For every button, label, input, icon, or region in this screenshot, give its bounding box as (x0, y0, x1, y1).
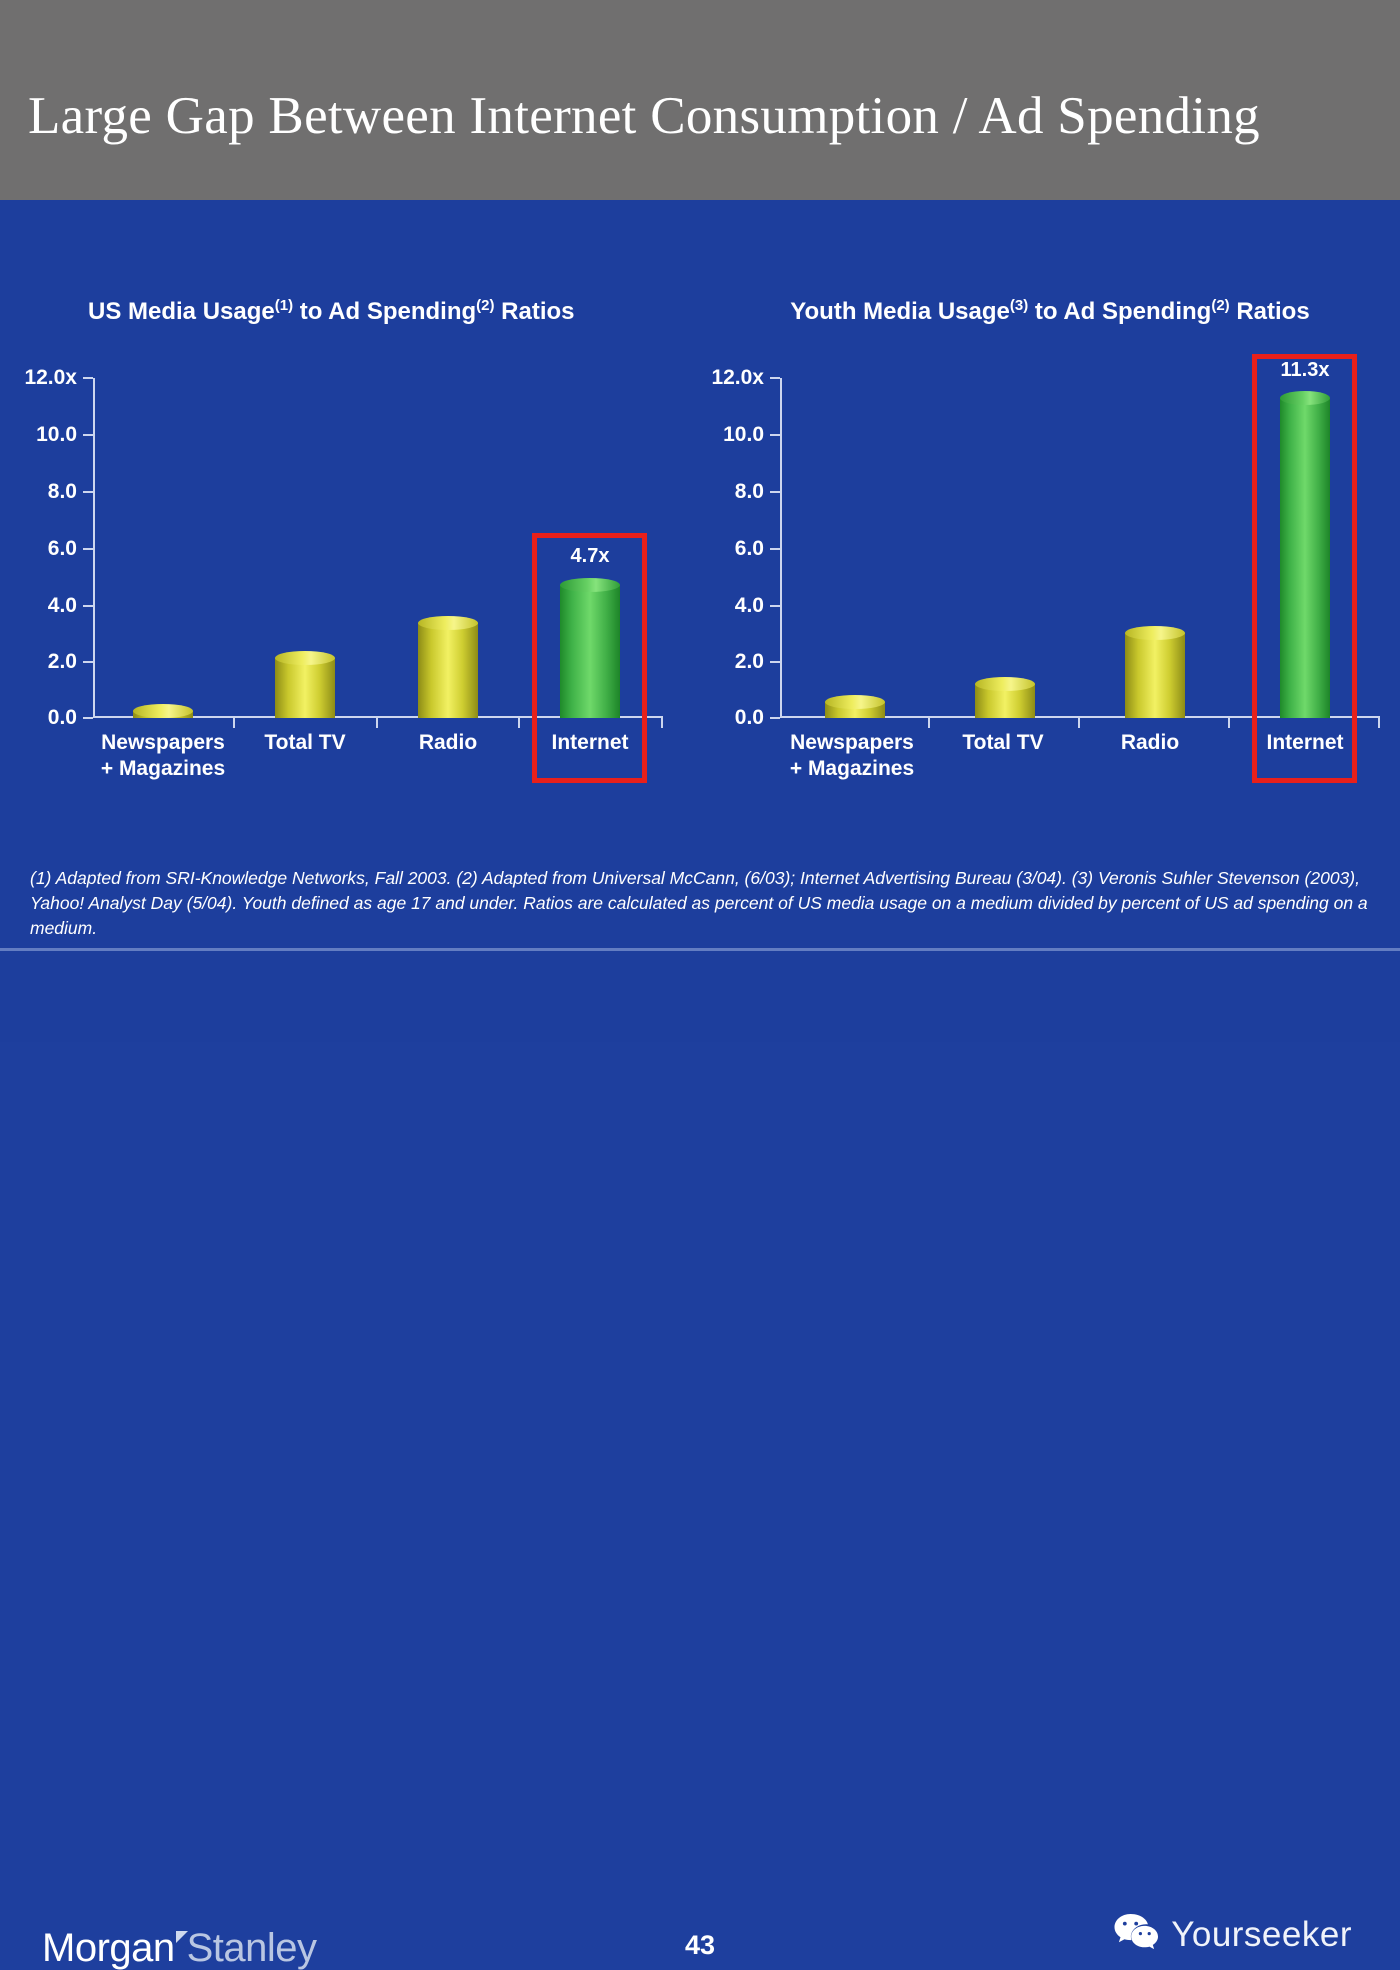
y-tick-us-0 (83, 717, 93, 719)
y-label-youth-8: 8.0 (735, 480, 764, 504)
x-label-youth-internet: Internet (1225, 730, 1385, 756)
bar-cap (133, 704, 193, 718)
x-tick-youth-3 (1228, 718, 1230, 728)
y-label-us-2: 2.0 (48, 650, 77, 674)
y-tick-youth-6 (770, 377, 780, 379)
chart-title-youth-part2: to Ad Spending (1028, 298, 1211, 325)
bar-body (418, 623, 478, 718)
bar-youth-newspapers-magazines (825, 702, 885, 718)
y-label-youth-4: 4.0 (735, 594, 764, 618)
chart-title-youth-footnote-3: (3) (1010, 297, 1028, 314)
x-label-youth-total-tv: Total TV (923, 730, 1083, 756)
x-tick-us-2 (376, 718, 378, 728)
chart-title-us-part1: US Media Usage (88, 298, 275, 325)
y-label-youth-0: 0.0 (735, 706, 764, 730)
y-label-youth-10: 10.0 (723, 423, 764, 447)
y-axis-line-youth (780, 378, 782, 718)
y-tick-us-2 (83, 605, 93, 607)
plot-youth: 12.0x 10.0 8.0 6.0 4.0 2.0 0.0 (780, 378, 1380, 718)
watermark: Yourseeker (1113, 1913, 1352, 1956)
bar-body (1125, 633, 1185, 718)
y-tick-us-5 (83, 434, 93, 436)
bar-cap (275, 651, 335, 665)
footnote: (1) Adapted from SRI-Knowledge Networks,… (30, 866, 1370, 941)
y-tick-us-1 (83, 661, 93, 663)
y-label-us-4: 4.0 (48, 594, 77, 618)
chart-title-us: US Media Usage(1) to Ad Spending(2) Rati… (0, 288, 612, 330)
y-label-us-12: 12.0x (24, 366, 77, 390)
y-label-us-10: 10.0 (36, 423, 77, 447)
y-axis-line-us (93, 378, 95, 718)
y-tick-youth-0 (770, 717, 780, 719)
bar-us-newspapers-magazines (133, 711, 193, 718)
chart-title-us-part2: to Ad Spending (293, 298, 476, 325)
y-label-youth-12: 12.0x (711, 366, 764, 390)
y-tick-youth-3 (770, 548, 780, 550)
page-title: Large Gap Between Internet Consumption /… (28, 86, 1260, 146)
x-label-us-total-tv: Total TV (225, 730, 385, 756)
chart-panel-youth: Youth Media Usage(3) to Ad Spending(2) R… (700, 200, 1400, 820)
chart-title-youth-footnote-2: (2) (1211, 297, 1229, 314)
y-tick-youth-5 (770, 434, 780, 436)
x-tick-us-1 (233, 718, 235, 728)
bar-us-radio (418, 623, 478, 718)
plot-us: 12.0x 10.0 8.0 6.0 4.0 2.0 0.0 (93, 378, 663, 718)
x-label-us-radio: Radio (368, 730, 528, 756)
bar-youth-total-tv (975, 684, 1035, 718)
bar-cap (418, 616, 478, 630)
x-tick-us-4 (661, 718, 663, 728)
highlight-box-youth-internet (1252, 354, 1357, 783)
x-tick-youth-1 (928, 718, 930, 728)
chart-title-us-footnote-2: (2) (476, 297, 494, 314)
y-tick-us-6 (83, 377, 93, 379)
slide: Large Gap Between Internet Consumption /… (0, 0, 1400, 1042)
y-label-us-0: 0.0 (48, 706, 77, 730)
y-tick-us-3 (83, 548, 93, 550)
bar-body (275, 658, 335, 718)
x-tick-youth-4 (1378, 718, 1380, 728)
y-tick-us-4 (83, 491, 93, 493)
bar-youth-radio (1125, 633, 1185, 718)
chart-title-youth: Youth Media Usage(3) to Ad Spending(2) R… (700, 288, 1400, 330)
y-tick-youth-1 (770, 661, 780, 663)
chart-title-us-footnote-1: (1) (275, 297, 293, 314)
x-label-youth-radio: Radio (1070, 730, 1230, 756)
y-tick-youth-4 (770, 491, 780, 493)
bar-us-total-tv (275, 658, 335, 718)
y-label-youth-2: 2.0 (735, 650, 764, 674)
footer: MorganStanley 43 Yourseeker (0, 951, 1400, 1042)
chart-title-us-part3: Ratios (495, 298, 575, 325)
x-label-us-internet: Internet (510, 730, 670, 756)
bar-cap (975, 677, 1035, 691)
x-tick-us-3 (518, 718, 520, 728)
bar-cap (825, 695, 885, 709)
y-label-youth-6: 6.0 (735, 537, 764, 561)
chart-title-youth-part1: Youth Media Usage (790, 298, 1010, 325)
chart-panel-us: US Media Usage(1) to Ad Spending(2) Rati… (0, 200, 700, 820)
header-band: Large Gap Between Internet Consumption /… (0, 0, 1400, 200)
y-label-us-6: 6.0 (48, 537, 77, 561)
x-label-youth-newspapers-magazines: Newspapers + Magazines (752, 730, 952, 782)
y-label-us-8: 8.0 (48, 480, 77, 504)
y-tick-youth-2 (770, 605, 780, 607)
bar-cap (1125, 626, 1185, 640)
charts-area: US Media Usage(1) to Ad Spending(2) Rati… (0, 200, 1400, 910)
watermark-text: Yourseeker (1171, 1915, 1352, 1955)
x-tick-youth-2 (1078, 718, 1080, 728)
wechat-icon (1113, 1913, 1159, 1956)
chart-title-youth-part3: Ratios (1230, 298, 1310, 325)
